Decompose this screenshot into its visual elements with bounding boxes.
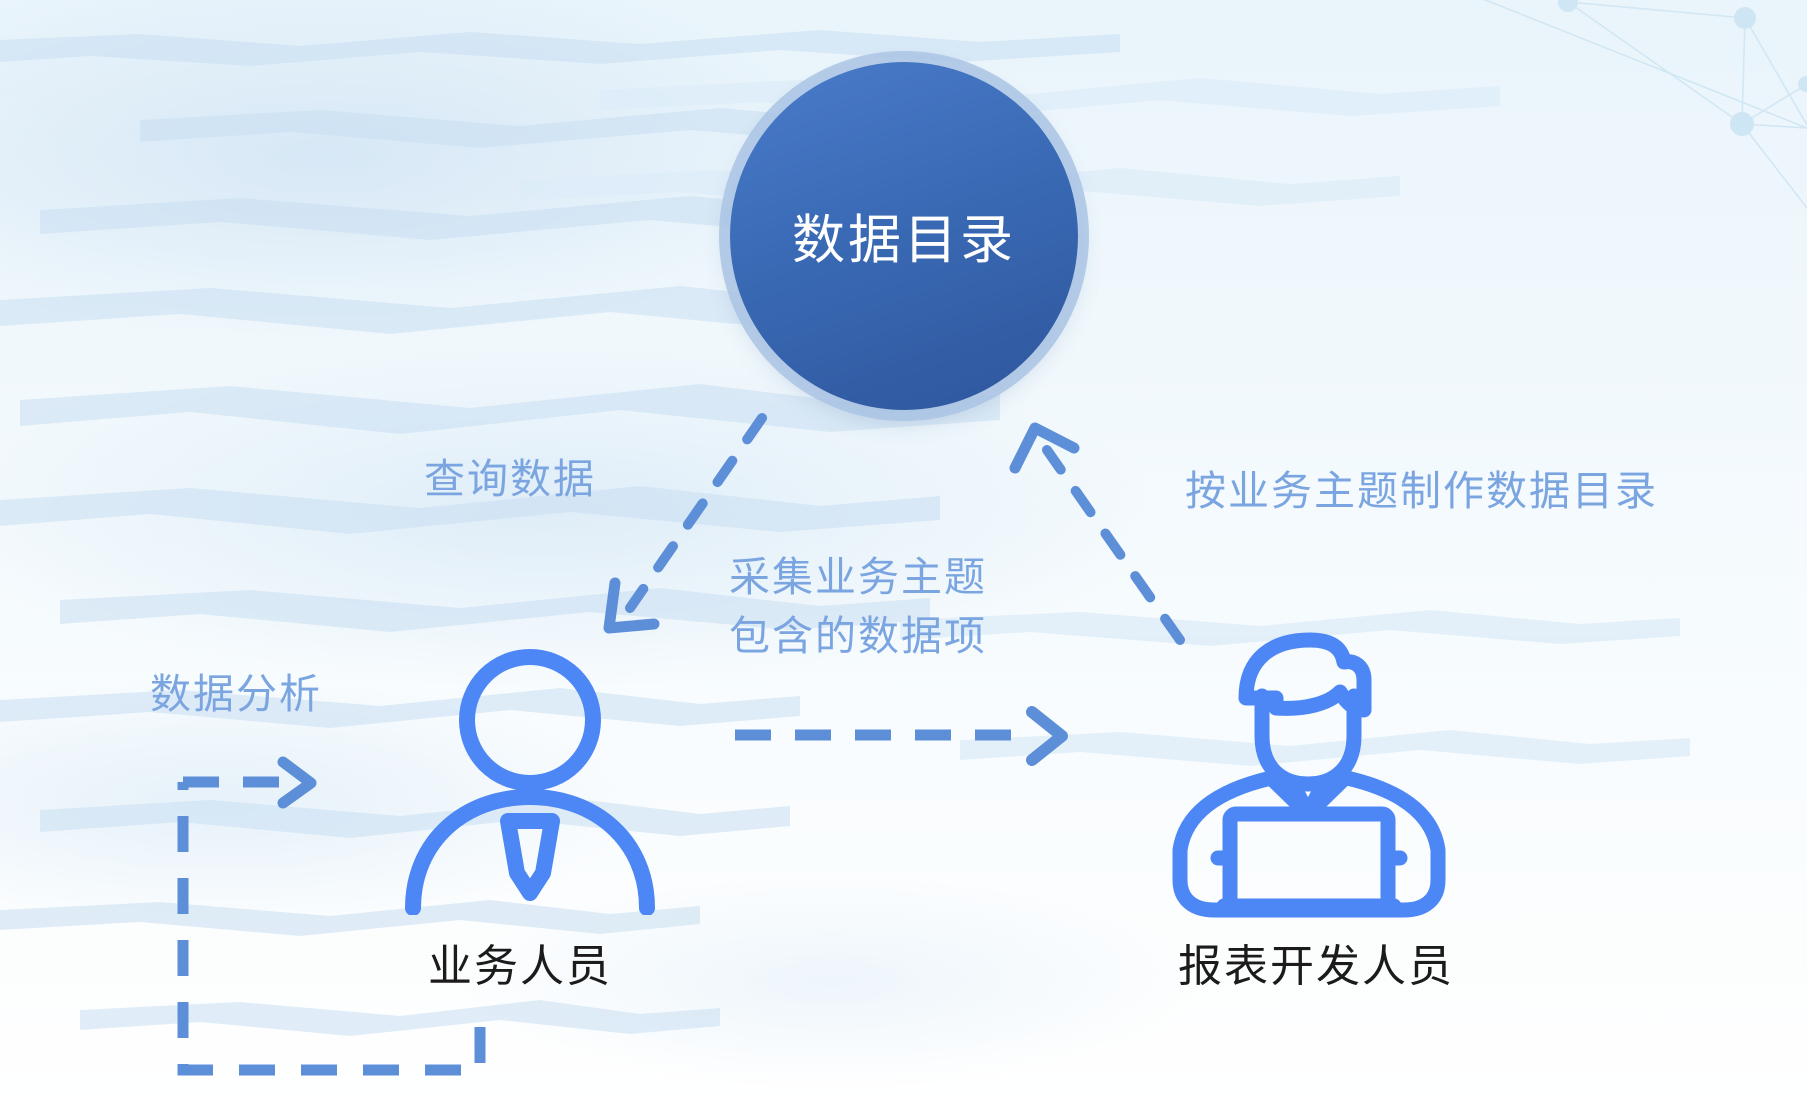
business-person-icon[interactable] <box>395 645 665 915</box>
data-catalog-node[interactable]: 数据目录 <box>730 62 1078 410</box>
edge-collect-items <box>735 712 1062 760</box>
business-person-tie <box>508 821 552 893</box>
edge-label-collect-items-line2: 包含的数据项 <box>729 607 1029 666</box>
business-person-label: 业务人员 <box>428 930 612 994</box>
report-developer-label: 报表开发人员 <box>1178 930 1454 994</box>
developer-laptop-icon[interactable] <box>1158 618 1463 918</box>
edge-label-build-catalog: 按业务主题制作数据目录 <box>1185 462 1658 521</box>
edge-label-data-analysis: 数据分析 <box>150 665 322 724</box>
edge-collect-items-arrowhead <box>1032 712 1062 760</box>
edge-build-catalog-arrowhead <box>1015 428 1074 468</box>
developer-laptop-screen <box>1230 814 1388 906</box>
edge-label-collect-items: 采集业务主题 包含的数据项 <box>729 548 1029 667</box>
diagram-canvas: 数据目录 查询数据 按业务主题制作数据目录 采集业务主题 包含的数据项 数据分析… <box>0 0 1807 1117</box>
edge-label-collect-items-line1: 采集业务主题 <box>729 548 1029 607</box>
business-person-head <box>467 657 593 783</box>
edge-label-query-data: 查询数据 <box>424 450 596 509</box>
edge-query-data-arrowhead <box>609 583 654 628</box>
edge-build-catalog <box>1015 428 1180 640</box>
edge-data-analysis-loop-arrowhead <box>283 762 311 803</box>
data-catalog-node-label: 数据目录 <box>792 198 1016 274</box>
edge-build-catalog-line <box>1047 450 1180 640</box>
